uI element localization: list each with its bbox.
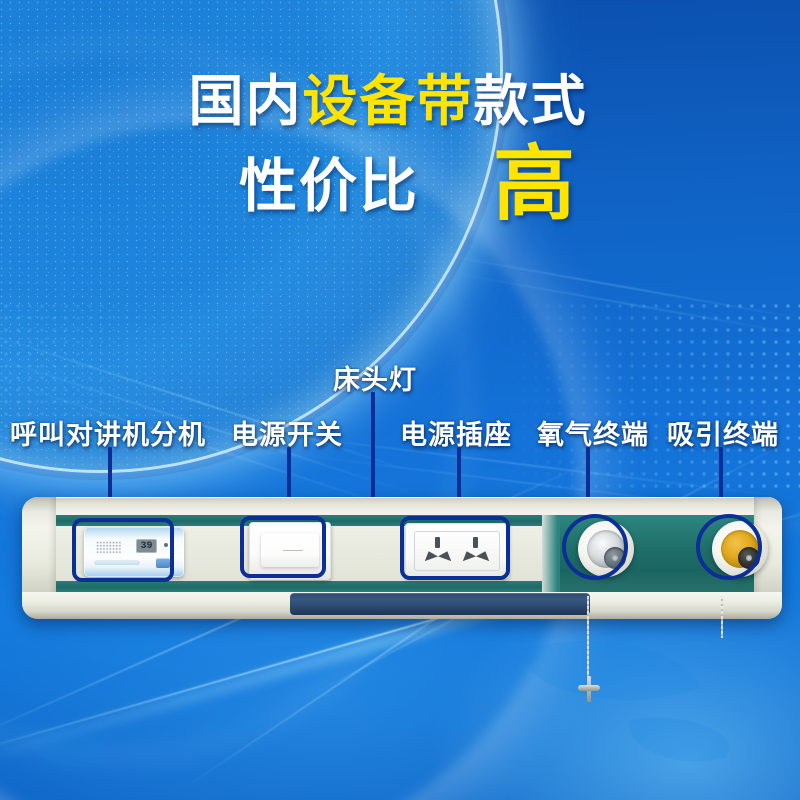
pull-cord-secondary[interactable] bbox=[721, 596, 723, 638]
callout-label-oxygen-terminal: 氧气终端 bbox=[537, 413, 649, 452]
panel-stripe-bottom bbox=[56, 581, 542, 592]
handle-cross bbox=[578, 685, 600, 691]
highlight-circle-suction bbox=[696, 514, 762, 580]
promo-banner: 国内设备带款式 性价比高 呼叫对讲机分机 电源开关 床头灯 电源插座 氧气终端 … bbox=[0, 0, 800, 800]
callout-label-suction-terminal: 吸引终端 bbox=[667, 413, 779, 452]
panel-teal-edge bbox=[542, 515, 560, 592]
pull-cord-handle[interactable] bbox=[578, 676, 600, 702]
callout-label-bed-lamp: 床头灯 bbox=[333, 358, 417, 397]
highlight-box-power-outlet bbox=[400, 516, 510, 580]
highlight-circle-oxygen bbox=[562, 514, 628, 580]
callout-label-power-outlet: 电源插座 bbox=[400, 413, 512, 452]
callout-layer: 呼叫对讲机分机 电源开关 床头灯 电源插座 氧气终端 吸引终端 bbox=[0, 0, 800, 800]
bed-lamp-diffuser bbox=[290, 593, 590, 615]
highlight-box-power-switch bbox=[240, 516, 326, 578]
highlight-box-intercom bbox=[72, 518, 174, 582]
